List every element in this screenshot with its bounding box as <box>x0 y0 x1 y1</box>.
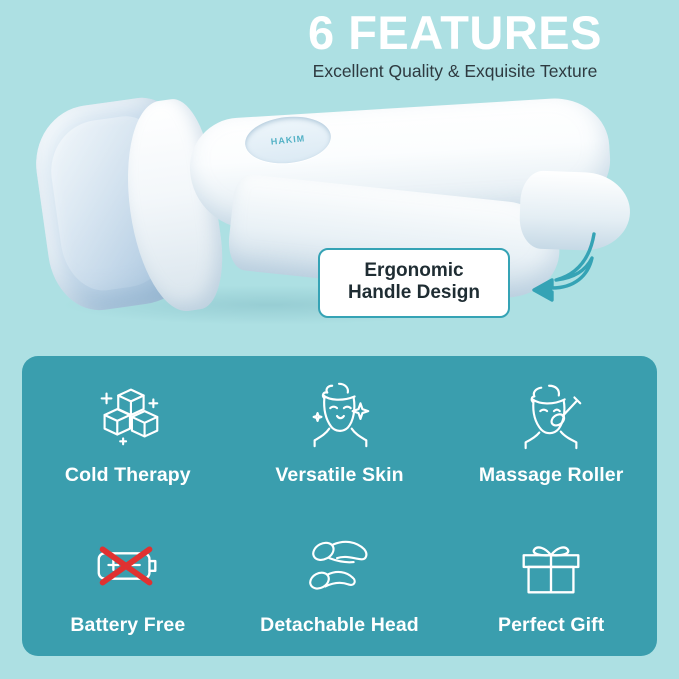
feature-detachable-head: Detachable Head <box>234 506 446 656</box>
gift-box-icon <box>512 526 590 604</box>
detachable-head-icon <box>300 526 378 604</box>
feature-label: Perfect Gift <box>498 614 604 637</box>
feature-battery-free: Battery Free <box>22 506 234 656</box>
callout-line-2: Handle Design <box>326 282 502 304</box>
feature-perfect-gift: Perfect Gift <box>445 506 657 656</box>
features-panel: Cold Therapy <box>22 356 657 656</box>
feature-versatile-skin: Versatile Skin <box>234 356 446 506</box>
callout-ergonomic-handle: Ergonomic Handle Design <box>318 248 510 318</box>
product-feature-graphic: 6 FEATURES Excellent Quality & Exquisite… <box>0 0 679 679</box>
feature-label: Massage Roller <box>479 464 623 487</box>
feature-label: Cold Therapy <box>65 464 191 487</box>
brand-badge-label: HAKIM <box>270 133 305 147</box>
feature-label: Detachable Head <box>260 614 419 637</box>
feature-label: Versatile Skin <box>275 464 403 487</box>
features-grid: Cold Therapy <box>22 356 657 656</box>
page-title: 6 FEATURES <box>245 8 665 57</box>
feature-cold-therapy: Cold Therapy <box>22 356 234 506</box>
ice-cubes-icon <box>89 376 167 454</box>
callout-line-1: Ergonomic <box>364 260 463 281</box>
face-roller-icon <box>512 376 590 454</box>
feature-massage-roller: Massage Roller <box>445 356 657 506</box>
battery-crossed-icon <box>89 526 167 604</box>
header: 6 FEATURES Excellent Quality & Exquisite… <box>245 8 665 82</box>
feature-label: Battery Free <box>70 614 185 637</box>
face-sparkle-icon <box>300 376 378 454</box>
